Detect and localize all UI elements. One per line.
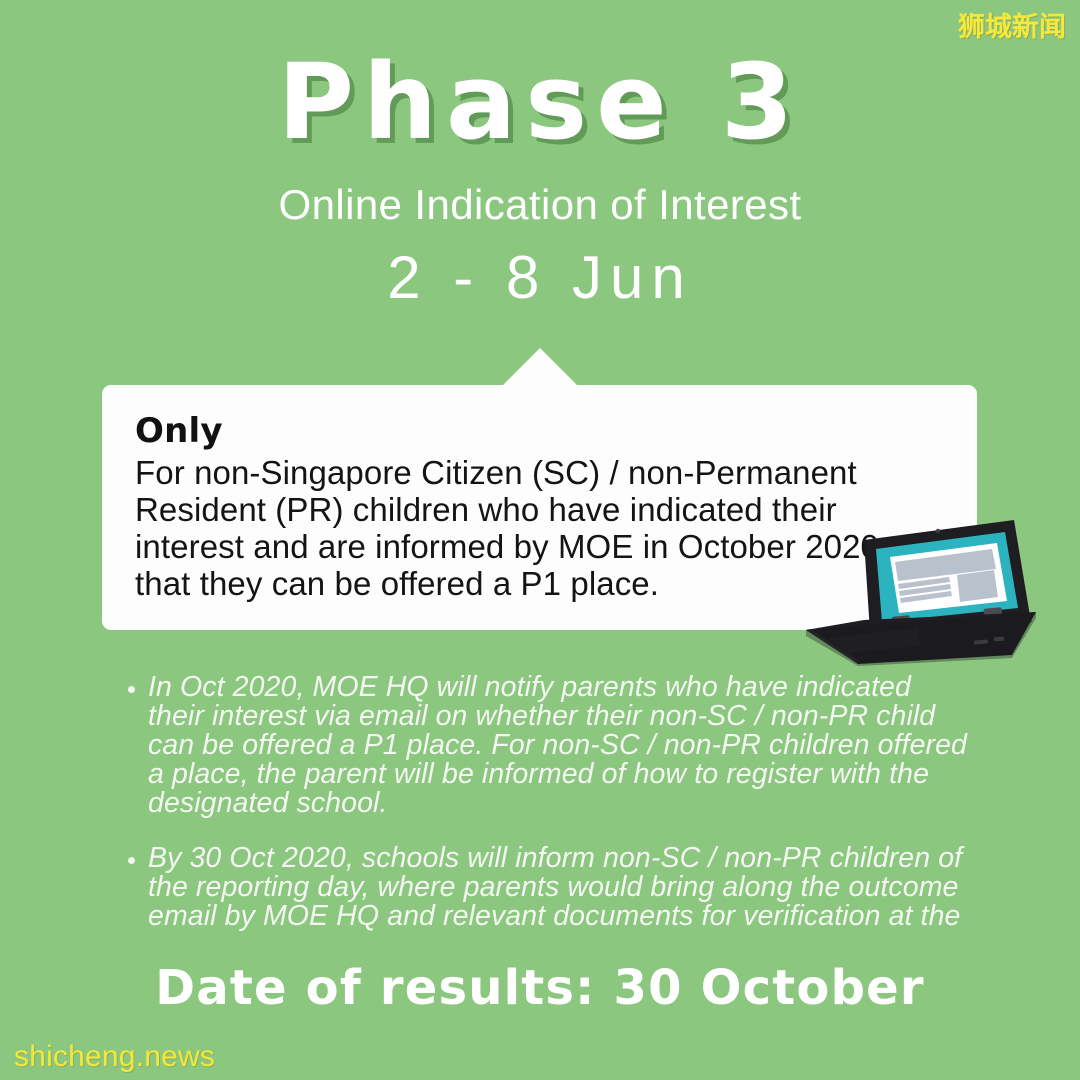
laptop-base <box>806 612 1036 666</box>
poster-canvas: 狮城新闻 Phase 3 Online Indication of Intere… <box>0 0 1080 1080</box>
result-date-line: Date of results: 30 October <box>0 962 1080 1015</box>
bullet-dot-icon <box>128 686 135 693</box>
date-range: 2 - 8 Jun <box>0 229 1080 311</box>
poster-header: Phase 3 Online Indication of Interest 2 … <box>0 0 1080 311</box>
page-subtitle: Online Indication of Interest <box>0 160 1080 228</box>
watermark-bottom-left: shicheng.news <box>14 1042 215 1072</box>
list-item: By 30 Oct 2020, schools will inform non-… <box>126 844 971 931</box>
note-text: In Oct 2020, MOE HQ will notify parents … <box>148 671 967 819</box>
bullet-dot-icon <box>128 857 135 864</box>
page-title: Phase 3 <box>0 0 1080 160</box>
callout-heading: Only <box>135 412 943 450</box>
laptop-illustration <box>798 512 1038 667</box>
list-item: In Oct 2020, MOE HQ will notify parents … <box>126 673 971 818</box>
callout-arrow <box>501 348 579 387</box>
note-text: By 30 Oct 2020, schools will inform non-… <box>148 842 962 932</box>
notes-list: In Oct 2020, MOE HQ will notify parents … <box>126 673 971 932</box>
